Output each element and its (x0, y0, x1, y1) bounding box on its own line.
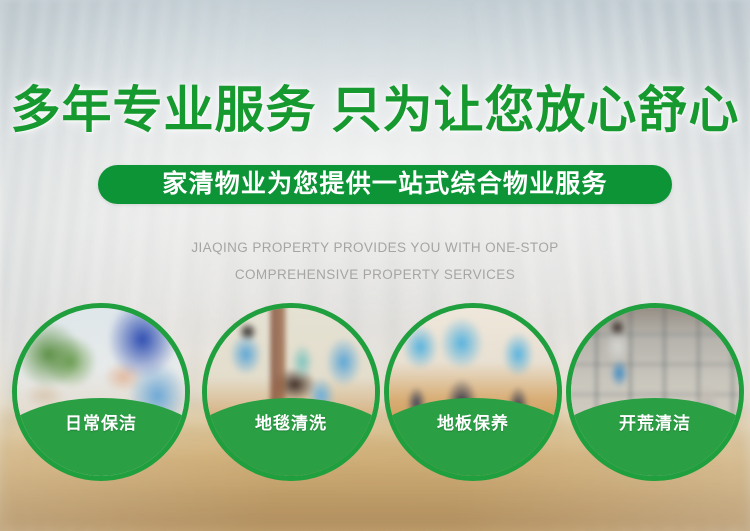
english-subtitle-line-1: JIAQING PROPERTY PROVIDES YOU WITH ONE-S… (0, 234, 750, 261)
english-subtitle-line-2: COMPREHENSIVE PROPERTY SERVICES (0, 261, 750, 288)
subheadline-pill: 家清物业为您提供一站式综合物业服务 (98, 165, 672, 204)
service-label-carpet-washing: 地毯清洗 (255, 415, 327, 432)
service-label-floor-maintenance: 地板保养 (437, 415, 509, 432)
service-circle-carpet-washing[interactable]: 地毯清洗 (202, 303, 380, 481)
service-circle-list: 日常保洁 地毯清洗 地板保养 开荒清洁 (0, 303, 750, 493)
service-caption-band: 地毯清洗 (202, 398, 380, 481)
service-circle-daily-cleaning[interactable]: 日常保洁 (12, 303, 190, 481)
service-caption-band: 日常保洁 (12, 398, 190, 481)
english-subtitle: JIAQING PROPERTY PROVIDES YOU WITH ONE-S… (0, 234, 750, 288)
subheadline-pill-text: 家清物业为您提供一站式综合物业服务 (162, 172, 607, 197)
service-circle-post-renovation-cleaning[interactable]: 开荒清洁 (566, 303, 744, 481)
service-caption-band: 开荒清洁 (566, 398, 744, 481)
headline: 多年专业服务 只为让您放心舒心 (0, 82, 750, 138)
service-label-post-renovation-cleaning: 开荒清洁 (619, 415, 691, 432)
service-label-daily-cleaning: 日常保洁 (65, 415, 137, 432)
service-circle-floor-maintenance[interactable]: 地板保养 (384, 303, 562, 481)
service-caption-band: 地板保养 (384, 398, 562, 481)
promo-banner: 多年专业服务 只为让您放心舒心 家清物业为您提供一站式综合物业服务 JIAQIN… (0, 0, 750, 531)
